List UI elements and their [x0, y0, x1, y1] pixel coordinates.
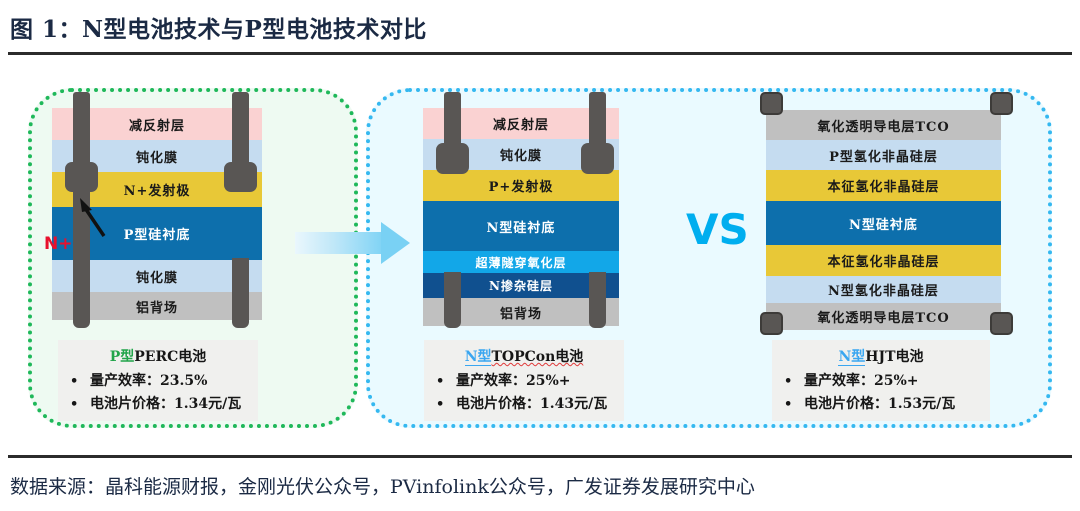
layer-label: 本征氢化非晶硅层	[827, 251, 939, 270]
layer-label: 钝化膜	[500, 145, 542, 164]
layer-label: P型硅衬底	[124, 224, 191, 243]
source-note: 数据来源：晶科能源财报，金刚光伏公众号，PVinfolink公众号，广发证券发展…	[10, 472, 755, 499]
spec-text: 电池片价格：1.43元/瓦	[456, 393, 607, 413]
layer-label: 钝化膜	[136, 267, 178, 286]
hjt-caption-title: N型HJT电池	[780, 346, 982, 366]
layer-label: N型硅衬底	[487, 217, 556, 236]
layer-label: 减反射层	[493, 114, 549, 133]
source-divider	[8, 455, 1072, 458]
layer-label: P+发射极	[489, 176, 554, 195]
contact-pad-bottom-right	[990, 312, 1013, 335]
front-electrode-finger	[589, 92, 606, 155]
layer-label: P型氢化非晶硅层	[829, 146, 938, 165]
layer-3: N型硅衬底	[423, 201, 619, 251]
layer-1: P型氢化非晶硅层	[766, 140, 1001, 170]
layer-2: 本征氢化非晶硅层	[766, 170, 1001, 201]
layer-label: 氧化透明导电层TCO	[817, 307, 949, 326]
layer-label: 钝化膜	[136, 147, 178, 166]
list-item: • 电池片价格：1.53元/瓦	[784, 393, 982, 413]
layer-4: 本征氢化非晶硅层	[766, 245, 1001, 276]
layer-label: 铝背场	[500, 303, 542, 322]
hjt-cell-diagram: 氧化透明导电层TCO P型氢化非晶硅层 本征氢化非晶硅层 N型硅衬底 本征氢化非…	[766, 110, 1001, 330]
spec-text: 电池片价格：1.53元/瓦	[804, 393, 955, 413]
list-item: • 量产效率：25%+	[784, 370, 982, 390]
rear-electrode-finger	[73, 258, 90, 328]
title-divider	[8, 52, 1072, 55]
type-tag: N型	[465, 349, 492, 366]
front-electrode-finger	[444, 92, 461, 155]
layer-5: N型氢化非晶硅层	[766, 276, 1001, 303]
type-tag: N型	[838, 349, 865, 366]
rear-electrode-finger	[232, 258, 249, 328]
layer-label: N+发射极	[124, 180, 191, 199]
perc-caption-title: P型PERC电池	[66, 346, 250, 366]
layer-label: 铝背场	[136, 297, 178, 316]
right-arrow-icon	[295, 222, 410, 262]
rear-electrode-finger	[444, 272, 461, 328]
bullet-icon: •	[784, 397, 804, 412]
contact-pad-top-left	[760, 92, 783, 115]
list-item: • 量产效率：23.5%	[70, 370, 250, 390]
bullet-icon: •	[70, 374, 90, 389]
layer-label: N型硅衬底	[849, 214, 918, 233]
topcon-caption-box: N型TOPCon电池 • 量产效率：25%+ • 电池片价格：1.43元/瓦	[424, 340, 624, 421]
figure-title: 图 1：N型电池技术与P型电池技术对比	[10, 10, 427, 44]
list-item: • 电池片价格：1.43元/瓦	[436, 393, 616, 413]
spec-text: 量产效率：25%+	[456, 370, 571, 390]
bullet-icon: •	[70, 397, 90, 412]
up-left-arrow-icon	[76, 196, 110, 238]
layer-label: 氧化透明导电层TCO	[817, 116, 949, 135]
layer-2: P+发射极	[423, 170, 619, 201]
bullet-icon: •	[436, 374, 456, 389]
layer-label: N掺杂硅层	[489, 277, 553, 294]
hjt-caption-box: N型HJT电池 • 量产效率：25%+ • 电池片价格：1.53元/瓦	[772, 340, 990, 421]
spec-text: 量产效率：23.5%	[90, 370, 207, 390]
arrow-body	[295, 232, 383, 254]
contact-pad-top-right	[990, 92, 1013, 115]
layer-label: 减反射层	[129, 115, 185, 134]
figure-root: 图 1：N型电池技术与P型电池技术对比 减反射层 钝化膜 N+发射极 P型硅衬底…	[0, 0, 1080, 511]
topcon-caption-title: N型TOPCon电池	[432, 346, 616, 366]
list-item: • 电池片价格：1.34元/瓦	[70, 393, 250, 413]
arrow-head	[381, 222, 410, 264]
cell-name: HJT电池	[865, 349, 923, 365]
spec-text: 量产效率：25%+	[804, 370, 919, 390]
bullet-icon: •	[436, 397, 456, 412]
type-tag: P型	[110, 349, 135, 365]
bullet-icon: •	[784, 374, 804, 389]
layer-label: 超薄隧穿氧化层	[475, 254, 566, 271]
layer-label: N型氢化非晶硅层	[828, 280, 939, 299]
spec-text: 电池片价格：1.34元/瓦	[90, 393, 241, 413]
front-electrode-finger	[232, 92, 249, 168]
list-item: • 量产效率：25%+	[436, 370, 616, 390]
front-electrode-finger	[73, 92, 90, 168]
layer-6: 氧化透明导电层TCO	[766, 303, 1001, 330]
contact-pad-bottom-left	[760, 312, 783, 335]
perc-caption-box: P型PERC电池 • 量产效率：23.5% • 电池片价格：1.34元/瓦	[58, 340, 258, 421]
layer-3: N型硅衬底	[766, 201, 1001, 245]
cell-name: PERC电池	[134, 349, 206, 365]
layer-4: 超薄隧穿氧化层	[423, 251, 619, 273]
rear-electrode-finger	[589, 272, 606, 328]
vs-label: VS	[686, 205, 749, 254]
cell-name: TOPCon电池	[491, 349, 583, 365]
layer-0: 氧化透明导电层TCO	[766, 110, 1001, 140]
layer-label: 本征氢化非晶硅层	[827, 176, 939, 195]
